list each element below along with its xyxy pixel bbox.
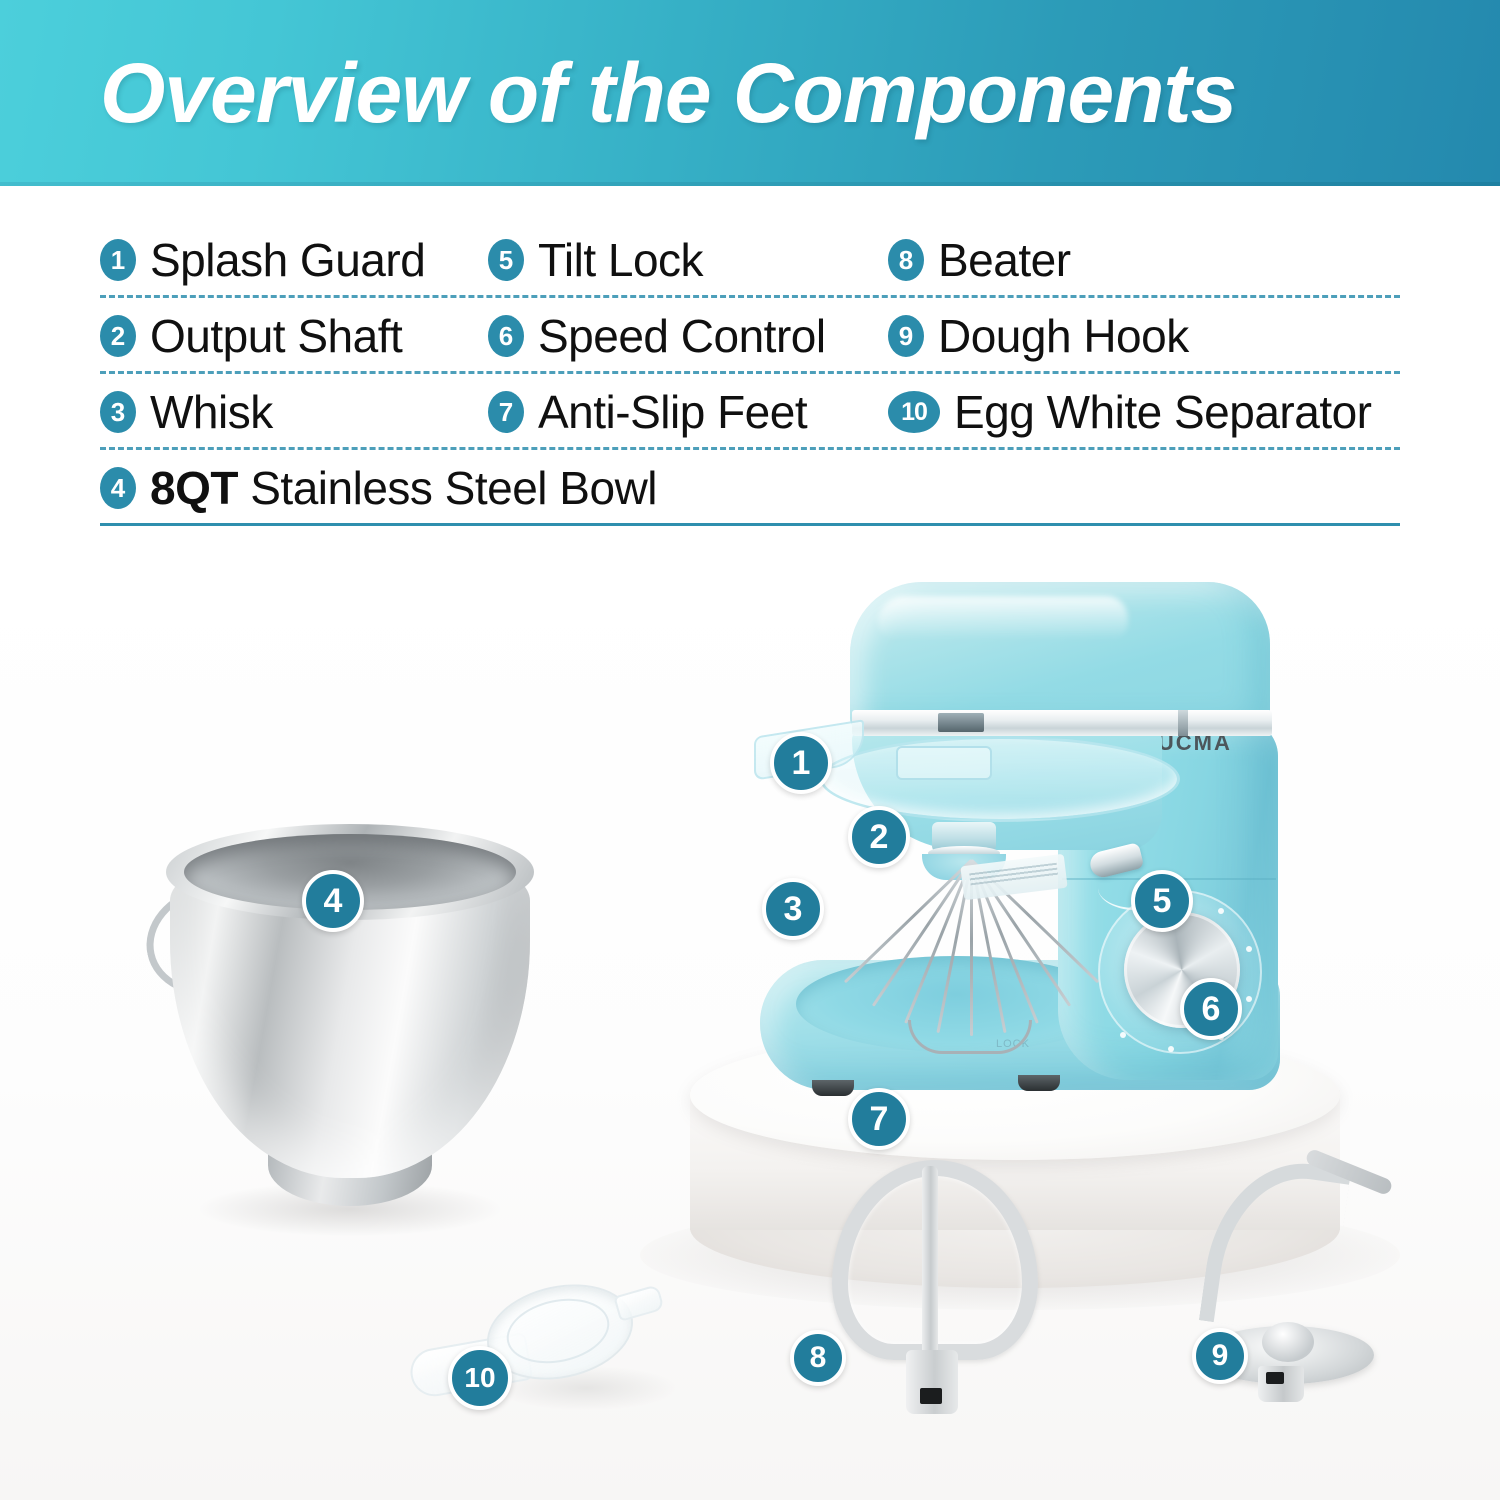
legend-badge-9: 9 — [888, 315, 924, 357]
flat-beater — [810, 1160, 1060, 1430]
callout-8-beater: 8 — [790, 1330, 846, 1386]
legend-label-4: 8QT Stainless Steel Bowl — [150, 461, 657, 515]
legend-badge-10: 10 — [888, 391, 940, 433]
legend-item-output-shaft: 2 Output Shaft — [100, 309, 488, 363]
legend-label-7: Anti-Slip Feet — [538, 385, 807, 439]
legend-row: 1 Splash Guard 5 Tilt Lock 8 Beater — [100, 222, 1400, 298]
legend-item-tilt-lock: 5 Tilt Lock — [488, 233, 888, 287]
legend-item-egg-white-separator: 10 Egg White Separator — [888, 385, 1388, 439]
legend-item-anti-slip-feet: 7 Anti-Slip Feet — [488, 385, 888, 439]
legend-badge-3: 3 — [100, 391, 136, 433]
legend-badge-5: 5 — [488, 239, 524, 281]
legend-label-8: Beater — [938, 233, 1071, 287]
legend-label-1: Splash Guard — [150, 233, 425, 287]
beater-shank — [906, 1350, 958, 1414]
legend-item-beater: 8 Beater — [888, 233, 1388, 287]
splash-guard-hatch — [896, 746, 992, 780]
beater-spine — [922, 1166, 938, 1366]
legend-label-9: Dough Hook — [938, 309, 1189, 363]
legend-item-splash-guard: 1 Splash Guard — [100, 233, 488, 287]
callout-1-splash-guard: 1 — [770, 732, 832, 794]
hook-pin-slot — [1266, 1372, 1284, 1384]
legend-badge-1: 1 — [100, 239, 136, 281]
hook-boss — [1262, 1322, 1314, 1362]
page-title: Overview of the Components — [100, 45, 1236, 142]
callout-3-whisk: 3 — [762, 878, 824, 940]
legend-label-5: Tilt Lock — [538, 233, 703, 287]
hook-curve — [1199, 1152, 1351, 1338]
mixer-band-marker — [1178, 710, 1188, 736]
legend-label-4-text: Stainless Steel Bowl — [238, 462, 657, 514]
legend-item-dough-hook: 9 Dough Hook — [888, 309, 1388, 363]
legend-label-4-capacity: 8QT — [150, 462, 238, 514]
legend-badge-8: 8 — [888, 239, 924, 281]
legend-badge-7: 7 — [488, 391, 524, 433]
legend-row: 2 Output Shaft 6 Speed Control 9 Dough H… — [100, 298, 1400, 374]
callout-4-bowl: 4 — [302, 870, 364, 932]
mixer-head-highlight — [878, 596, 1128, 640]
legend-badge-4: 4 — [100, 467, 136, 509]
legend-label-6: Speed Control — [538, 309, 826, 363]
callout-7-anti-slip-feet: 7 — [848, 1088, 910, 1150]
beater-pin-slot — [920, 1388, 942, 1404]
mixer-chrome-band — [852, 710, 1272, 736]
header-banner: Overview of the Components — [0, 0, 1500, 186]
callout-9-dough-hook: 9 — [1192, 1328, 1248, 1384]
legend-item-whisk: 3 Whisk — [100, 385, 488, 439]
legend-row: 4 8QT Stainless Steel Bowl — [100, 450, 1400, 526]
separator-spout — [613, 1284, 664, 1322]
anti-slip-foot — [812, 1080, 854, 1096]
callout-10-egg-separator: 10 — [448, 1346, 512, 1410]
legend-row: 3 Whisk 7 Anti-Slip Feet 10 Egg White Se… — [100, 374, 1400, 450]
mixer-band-marker — [938, 713, 984, 732]
legend-label-2: Output Shaft — [150, 309, 402, 363]
callout-2-output-shaft: 2 — [848, 806, 910, 868]
legend-badge-2: 2 — [100, 315, 136, 357]
anti-slip-foot — [1018, 1075, 1060, 1091]
legend-item-stainless-steel-bowl: 4 8QT Stainless Steel Bowl — [100, 461, 657, 515]
legend-label-3: Whisk — [150, 385, 273, 439]
legend-label-10: Egg White Separator — [954, 385, 1372, 439]
stand-mixer: LOCK AUCMA — [700, 560, 1320, 1160]
components-legend: 1 Splash Guard 5 Tilt Lock 8 Beater 2 Ou… — [100, 222, 1400, 526]
whisk-bottom-loop — [908, 1020, 1032, 1054]
dough-hook — [1200, 1160, 1400, 1430]
product-scene: LOCK AUCMA — [0, 560, 1500, 1500]
legend-item-speed-control: 6 Speed Control — [488, 309, 888, 363]
callout-5-tilt-lock: 5 — [1131, 870, 1193, 932]
callout-6-speed-control: 6 — [1180, 978, 1242, 1040]
legend-badge-6: 6 — [488, 315, 524, 357]
